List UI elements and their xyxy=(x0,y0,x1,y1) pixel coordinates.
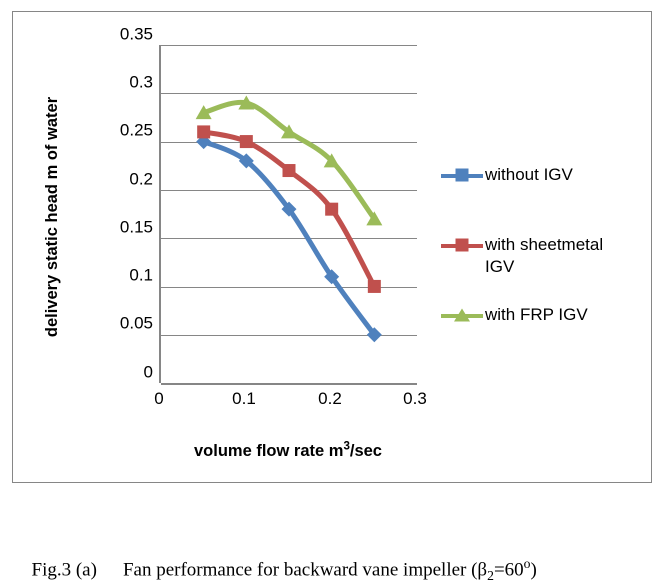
y-tick-label: 0.2 xyxy=(91,171,153,188)
caption-text-middle: =60 xyxy=(494,559,524,580)
figure-caption: Fig.3 (a)Fan performance for backward va… xyxy=(22,534,537,584)
chart-container: delivery static head m of water 0.35 0.3… xyxy=(12,11,652,483)
square-marker-icon xyxy=(325,203,338,216)
legend-label: with sheetmetal IGV xyxy=(485,234,603,278)
x-axis-title-text: volume flow rate m3/sec xyxy=(194,442,382,460)
plot-area xyxy=(159,45,417,383)
x-axis-line xyxy=(161,383,417,385)
degree-symbol: o xyxy=(524,556,531,571)
legend-key-diamond xyxy=(439,164,485,186)
y-tick-label: 0.15 xyxy=(91,219,153,236)
legend-key-triangle xyxy=(439,304,485,326)
legend-label: with FRP IGV xyxy=(485,304,588,326)
y-tick-label: 0.05 xyxy=(91,315,153,332)
y-tick-label: 0.25 xyxy=(91,122,153,139)
square-marker-icon xyxy=(283,164,296,177)
triangle-marker-icon xyxy=(454,309,470,322)
y-tick-label: 0.35 xyxy=(91,26,153,43)
y-axis-title: delivery static head m of water xyxy=(39,32,65,402)
beta-subscript: 2 xyxy=(487,568,494,583)
y-tick-label: 0.1 xyxy=(91,267,153,284)
x-axis-title: volume flow rate m3/sec xyxy=(113,440,463,461)
y-tick-label: 0.3 xyxy=(91,74,153,91)
caption-text-before: Fan performance for backward vane impell… xyxy=(123,559,487,580)
legend-label: without IGV xyxy=(485,164,573,186)
y-tick-label: 0 xyxy=(91,364,153,381)
legend-entry-without-igv[interactable]: without IGV xyxy=(439,164,659,186)
y-axis-tick-labels: 0.35 0.3 0.25 0.2 0.15 0.1 0.05 0 xyxy=(85,12,153,482)
square-marker-icon xyxy=(456,239,469,252)
series-line-3 xyxy=(204,102,375,218)
square-marker-icon xyxy=(197,125,210,138)
legend-entry-with-sheetmetal-igv[interactable]: with sheetmetal IGV xyxy=(439,234,659,278)
figure-number: Fig.3 (a) xyxy=(32,559,97,580)
square-marker-icon xyxy=(368,280,381,293)
x-axis-tick-labels: 0 0.1 0.2 0.3 xyxy=(159,390,415,414)
data-series-layer xyxy=(161,45,417,383)
legend-entry-with-frp-igv[interactable]: with FRP IGV xyxy=(439,304,659,326)
caption-text-after: ) xyxy=(531,559,537,580)
x-tick-label: 0 xyxy=(129,390,189,407)
x-tick-label: 0.2 xyxy=(300,390,360,407)
x-tick-label: 0.1 xyxy=(214,390,274,407)
diamond-marker-icon xyxy=(456,169,469,182)
square-marker-icon xyxy=(240,135,253,148)
legend-key-square xyxy=(439,234,485,256)
x-tick-label: 0.3 xyxy=(385,390,445,407)
